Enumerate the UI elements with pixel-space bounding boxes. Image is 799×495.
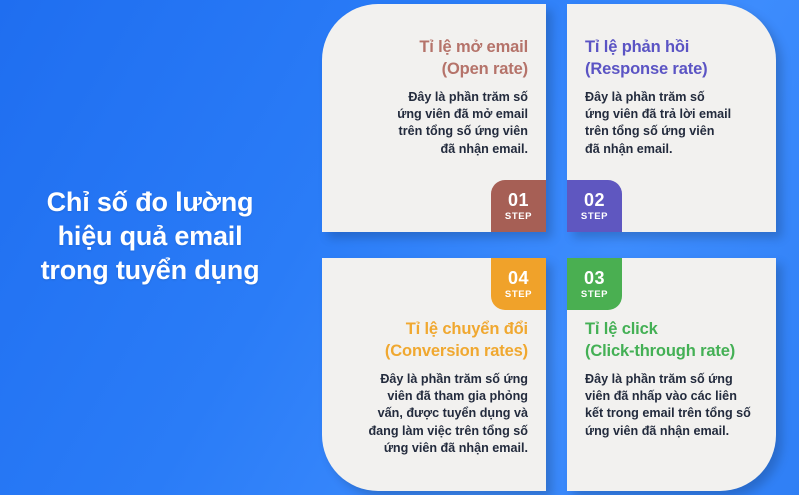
card-open-rate-content: Tỉ lệ mở email (Open rate) Đây là phần t… — [322, 36, 546, 158]
card-conversion-rate-title-line-2: (Conversion rates) — [340, 340, 528, 362]
step-badge-02-label: STEP — [581, 212, 608, 222]
brand-watermark: BASE HR Insider — [0, 0, 150, 6]
card-open-rate-title: Tỉ lệ mở email (Open rate) — [340, 36, 528, 80]
card-click-rate-title: Tỉ lệ click (Click-through rate) — [585, 318, 758, 362]
page-title-line-2: hiệu quả email — [0, 219, 300, 253]
card-open-rate-title-line-2: (Open rate) — [340, 58, 528, 80]
step-badge-01: 01 STEP — [491, 180, 546, 232]
card-click-rate-title-line-2: (Click-through rate) — [585, 340, 758, 362]
card-response-rate-title-line-1: Tỉ lệ phản hồi — [585, 36, 758, 58]
card-conversion-rate-body: Đây là phần trăm số ứng viên đã tham gia… — [340, 371, 528, 457]
page-title-line-1: Chỉ số đo lường — [0, 185, 300, 219]
step-badge-03: 03 STEP — [567, 258, 622, 310]
card-open-rate-body: Đây là phần trăm số ứng viên đã mở email… — [340, 89, 528, 158]
card-click-rate-content: Tỉ lệ click (Click-through rate) Đây là … — [567, 318, 776, 440]
card-response-rate-body-line-3: trên tổng số ứng viên — [585, 123, 758, 140]
card-click-rate-title-line-1: Tỉ lệ click — [585, 318, 758, 340]
card-conversion-rate[interactable]: Tỉ lệ chuyển đổi (Conversion rates) Đây … — [322, 258, 546, 491]
card-response-rate-title-line-2: (Response rate) — [585, 58, 758, 80]
card-open-rate-title-line-1: Tỉ lệ mở email — [340, 36, 528, 58]
card-response-rate-body-line-4: đã nhận email. — [585, 141, 758, 158]
page-title: Chỉ số đo lường hiệu quả email trong tuy… — [0, 185, 300, 287]
card-conversion-rate-body-line-4: đang làm việc trên tổng số — [340, 423, 528, 440]
card-open-rate[interactable]: Tỉ lệ mở email (Open rate) Đây là phần t… — [322, 4, 546, 232]
card-response-rate[interactable]: Tỉ lệ phản hồi (Response rate) Đây là ph… — [567, 4, 776, 232]
step-badge-02-number: 02 — [584, 191, 605, 209]
step-badge-01-label: STEP — [505, 212, 532, 222]
card-conversion-rate-body-line-2: viên đã tham gia phỏng — [340, 388, 528, 405]
card-conversion-rate-body-line-1: Đây là phần trăm số ứng — [340, 371, 528, 388]
card-conversion-rate-title-line-1: Tỉ lệ chuyển đổi — [340, 318, 528, 340]
card-click-rate-body-line-4: ứng viên đã nhận email. — [585, 423, 758, 440]
step-badge-03-number: 03 — [584, 269, 605, 287]
card-conversion-rate-body-line-5: ứng viên đã nhận email. — [340, 440, 528, 457]
card-click-rate-body-line-3: kết trong email trên tổng số — [585, 405, 758, 422]
card-open-rate-body-line-2: ứng viên đã mở email — [340, 106, 528, 123]
card-open-rate-body-line-4: đã nhận email. — [340, 141, 528, 158]
step-badge-04-label: STEP — [505, 290, 532, 300]
card-conversion-rate-body-line-3: vấn, được tuyển dụng và — [340, 405, 528, 422]
card-open-rate-body-line-1: Đây là phần trăm số — [340, 89, 528, 106]
step-badge-02: 02 STEP — [567, 180, 622, 232]
step-badge-04-number: 04 — [508, 269, 529, 287]
card-response-rate-content: Tỉ lệ phản hồi (Response rate) Đây là ph… — [567, 36, 776, 158]
step-badge-01-number: 01 — [508, 191, 529, 209]
step-badge-03-label: STEP — [581, 290, 608, 300]
page-title-line-3: trong tuyển dụng — [0, 253, 300, 287]
card-response-rate-title: Tỉ lệ phản hồi (Response rate) — [585, 36, 758, 80]
card-click-rate[interactable]: Tỉ lệ click (Click-through rate) Đây là … — [567, 258, 776, 491]
card-response-rate-body: Đây là phần trăm số ứng viên đã trả lời … — [585, 89, 758, 158]
card-conversion-rate-content: Tỉ lệ chuyển đổi (Conversion rates) Đây … — [322, 318, 546, 457]
card-click-rate-body-line-1: Đây là phần trăm số ứng — [585, 371, 758, 388]
card-click-rate-body: Đây là phần trăm số ứng viên đã nhấp vào… — [585, 371, 758, 440]
card-response-rate-body-line-2: ứng viên đã trả lời email — [585, 106, 758, 123]
card-open-rate-body-line-3: trên tổng số ứng viên — [340, 123, 528, 140]
step-badge-04: 04 STEP — [491, 258, 546, 310]
card-response-rate-body-line-1: Đây là phần trăm số — [585, 89, 758, 106]
card-click-rate-body-line-2: viên đã nhấp vào các liên — [585, 388, 758, 405]
card-conversion-rate-title: Tỉ lệ chuyển đổi (Conversion rates) — [340, 318, 528, 362]
